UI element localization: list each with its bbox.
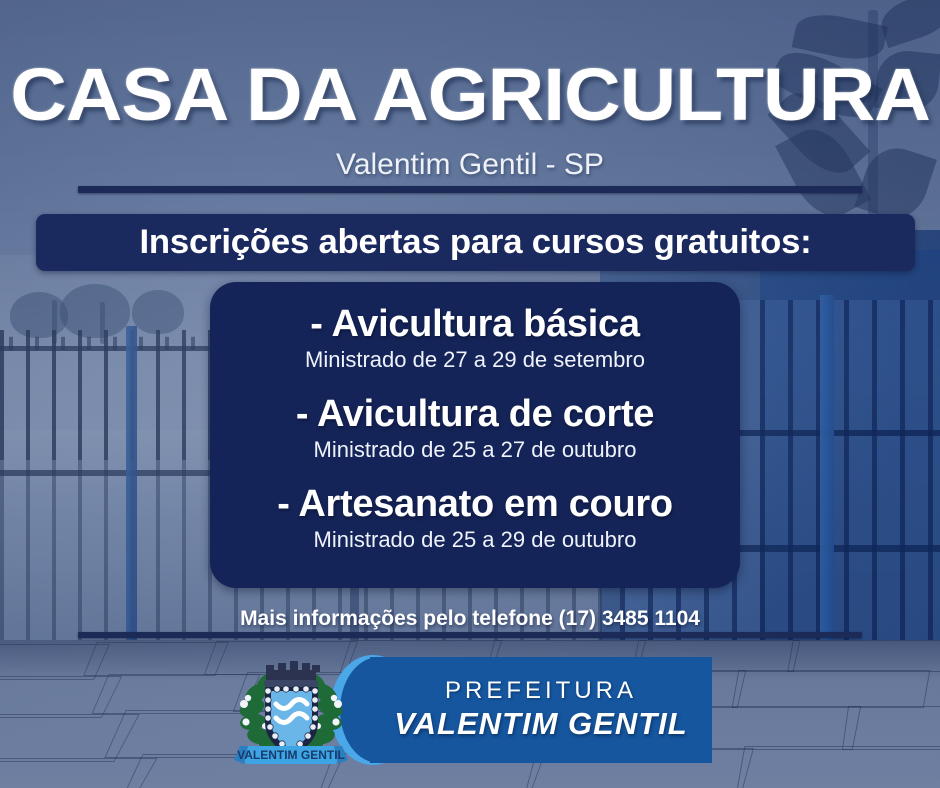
course-date: Ministrado de 25 a 27 de outubro (210, 436, 740, 464)
page-subtitle: Valentim Gentil - SP (0, 148, 940, 182)
headline-banner: Inscrições abertas para cursos gratuitos… (36, 214, 915, 271)
courses-panel: - Avicultura básica Ministrado de 27 a 2… (210, 282, 740, 588)
coat-of-arms-icon: VALENTIM GENTIL (232, 660, 350, 772)
headline-text: Inscrições abertas para cursos gratuitos… (27, 214, 924, 271)
divider-bottom (78, 632, 862, 638)
emblem-ribbon-text: VALENTIM GENTIL (237, 748, 345, 762)
logo-wordmark: PREFEITURA VALENTIM GENTIL (370, 657, 712, 763)
contact-phone-text: Mais informações pelo telefone (17) 3485… (0, 607, 940, 631)
course-name: - Avicultura de corte (210, 395, 740, 435)
logo-city-label: VALENTIM GENTIL (394, 706, 687, 742)
logo-prefeitura-label: PREFEITURA (445, 678, 637, 704)
course-date: Ministrado de 25 a 29 de outubro (210, 526, 740, 554)
page-title: CASA DA AGRICULTURA (0, 58, 940, 132)
poster-canvas: CASA DA AGRICULTURA Valentim Gentil - SP… (0, 0, 940, 788)
course-name: - Avicultura básica (210, 305, 740, 345)
course-item: - Avicultura de corte Ministrado de 25 a… (210, 395, 740, 463)
divider-top (78, 186, 862, 193)
poster-content: CASA DA AGRICULTURA Valentim Gentil - SP… (0, 0, 940, 788)
course-item: - Avicultura básica Ministrado de 27 a 2… (210, 305, 740, 373)
course-name: - Artesanato em couro (210, 485, 740, 525)
course-date: Ministrado de 27 a 29 de setembro (210, 346, 740, 374)
course-item: - Artesanato em couro Ministrado de 25 a… (210, 485, 740, 553)
